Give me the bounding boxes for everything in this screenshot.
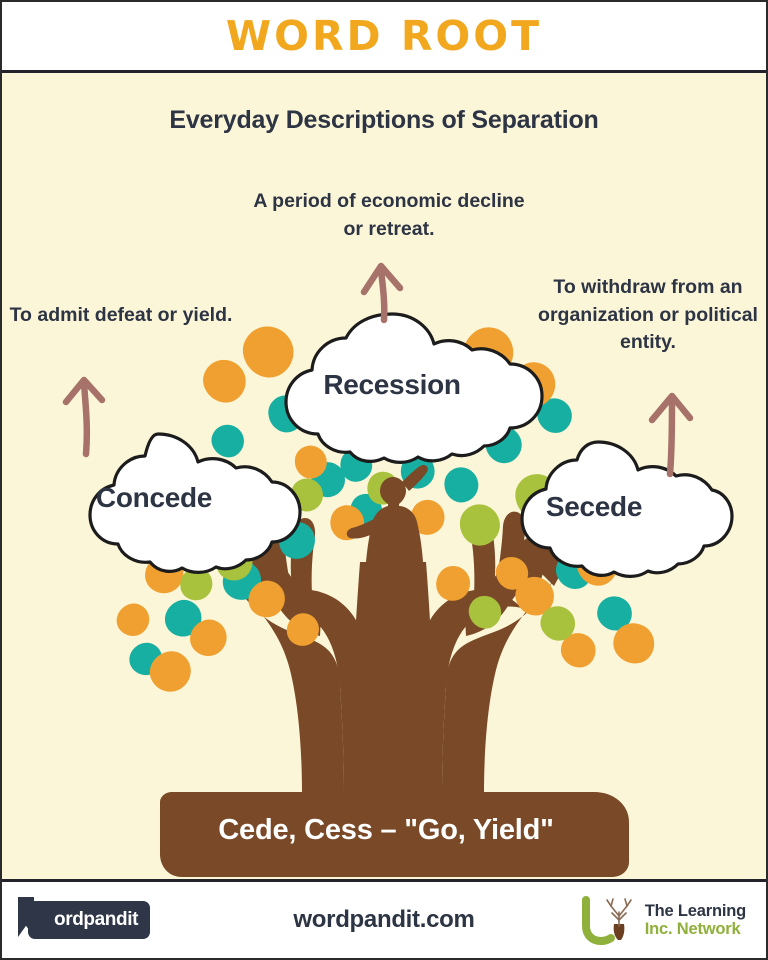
root-word-text: Cede, Cess – "Go, Yield": [106, 814, 666, 847]
word-label-recession[interactable]: Recession: [258, 369, 526, 401]
arrow-up-recession: [364, 266, 400, 320]
child-silhouette: [347, 465, 428, 604]
left-hand: [205, 507, 344, 794]
the-learning-inc-network-logo[interactable]: The Learning Inc. Network: [578, 894, 746, 946]
tree-trunk: [264, 562, 522, 794]
tln-line-2: Inc. Network: [645, 920, 746, 938]
header-band: WORD ROOT: [2, 2, 766, 73]
arrow-up-secede: [652, 396, 690, 474]
page-title: WORD ROOT: [226, 12, 542, 60]
subtitle: Everyday Descriptions of Separation: [2, 106, 766, 135]
tln-text-block: The Learning Inc. Network: [645, 902, 746, 939]
u-tree-icon: [578, 894, 640, 946]
word-label-concede[interactable]: Concede: [34, 482, 274, 514]
description-concede: To admit defeat or yield.: [2, 302, 240, 330]
arrow-up-concede: [66, 380, 102, 454]
footer-band: ordpandit wordpandit.com: [2, 879, 766, 958]
right-hand: [442, 507, 581, 794]
description-recession: A period of economic decline or retreat.: [241, 188, 537, 243]
infographic-poster: WORD ROOT Everyday Descriptions of Separ…: [0, 0, 768, 960]
tln-line-1: The Learning: [645, 902, 746, 920]
word-label-secede[interactable]: Secede: [474, 491, 714, 523]
description-secede: To withdraw from an organization or poli…: [532, 274, 764, 357]
